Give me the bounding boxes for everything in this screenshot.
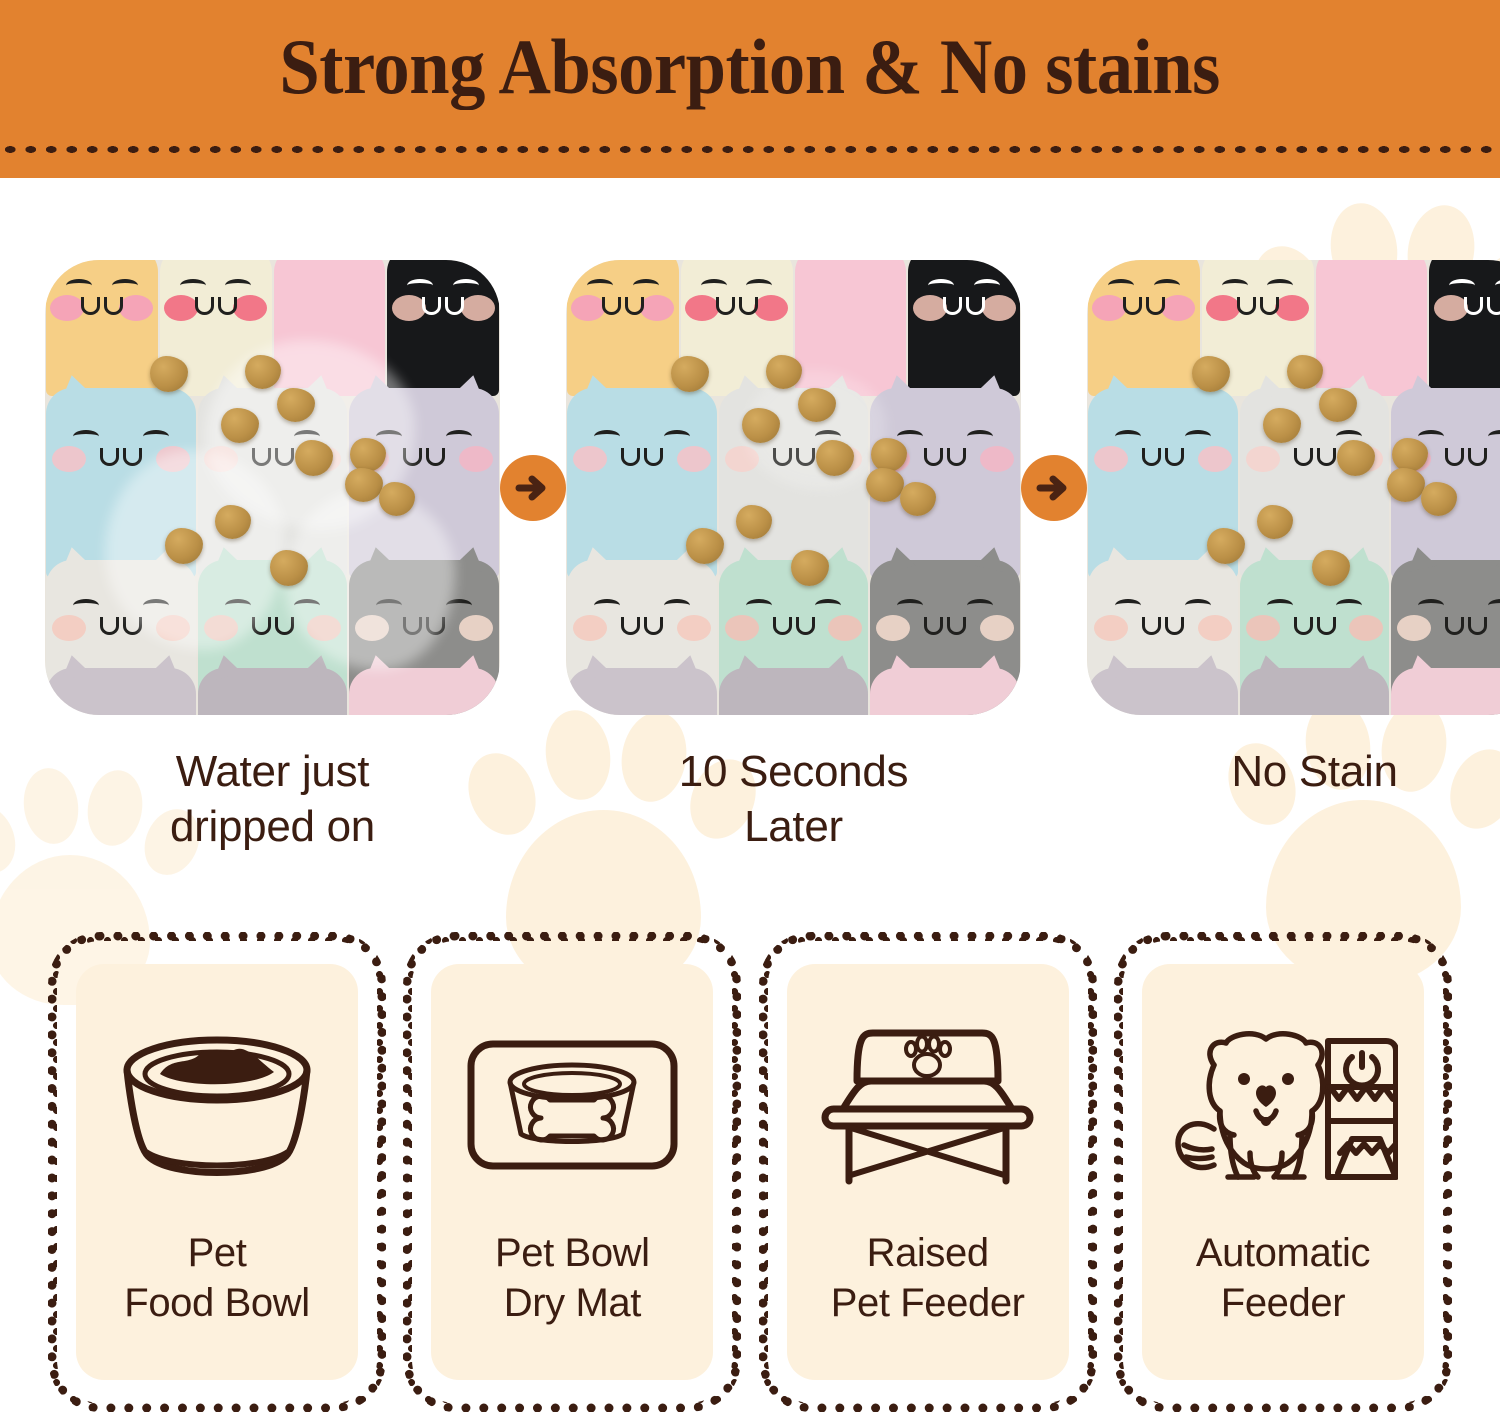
caption-line: No Stain [1231,745,1397,800]
feature-card-label: Pet Bowl Dry Mat [495,1228,650,1329]
automatic-feeder-icon [1168,1010,1398,1200]
pet-food-bowl-icon [112,1010,322,1200]
caption-line: Later [679,800,908,855]
demo-step-2: 10 Seconds Later [566,260,1021,854]
label-line: Pet [124,1228,309,1278]
feature-card-raised-pet-feeder[interactable]: Raised Pet Feeder [759,932,1097,1412]
feature-card-pet-food-bowl[interactable]: Pet Food Bowl [48,932,386,1412]
label-line: Food Bowl [124,1278,309,1328]
demo-photo-water-dripped [45,260,500,715]
demo-step-3: No Stain [1087,260,1500,800]
feature-card-automatic-feeder[interactable]: Automatic Feeder [1114,932,1452,1412]
label-line: Pet Bowl [495,1228,650,1278]
feature-card-label: Raised Pet Feeder [831,1228,1025,1329]
label-line: Pet Feeder [831,1278,1025,1328]
caption-line: dripped on [170,800,375,855]
label-line: Raised [831,1228,1025,1278]
feature-card-label: Automatic Feeder [1196,1228,1370,1329]
raised-pet-feeder-icon [815,1010,1040,1200]
demo-photo-no-stain [1087,260,1500,715]
caption-line: 10 Seconds [679,745,908,800]
pet-bowl-dry-mat-icon [465,1010,680,1200]
caption-line: Water just [170,745,375,800]
absorption-demo-row: Water just dripped on [0,260,1500,854]
label-line: Automatic [1196,1228,1370,1278]
arrow-right-icon [500,455,566,521]
header-banner: Strong Absorption & No stains [0,0,1500,178]
feature-card-pet-bowl-dry-mat[interactable]: Pet Bowl Dry Mat [403,932,741,1412]
banner-dotted-divider [0,143,1500,156]
feature-cards-row: Pet Food Bowl Pet Bowl Dry Mat [0,932,1500,1412]
label-line: Dry Mat [495,1278,650,1328]
demo-step-1: Water just dripped on [45,260,500,854]
demo-photo-ten-seconds-later [566,260,1021,715]
feature-card-label: Pet Food Bowl [124,1228,309,1329]
demo-caption-3: No Stain [1231,745,1397,800]
label-line: Feeder [1196,1278,1370,1328]
demo-caption-2: 10 Seconds Later [679,745,908,854]
page-title: Strong Absorption & No stains [280,28,1220,106]
demo-caption-1: Water just dripped on [170,745,375,854]
arrow-right-icon [1021,455,1087,521]
